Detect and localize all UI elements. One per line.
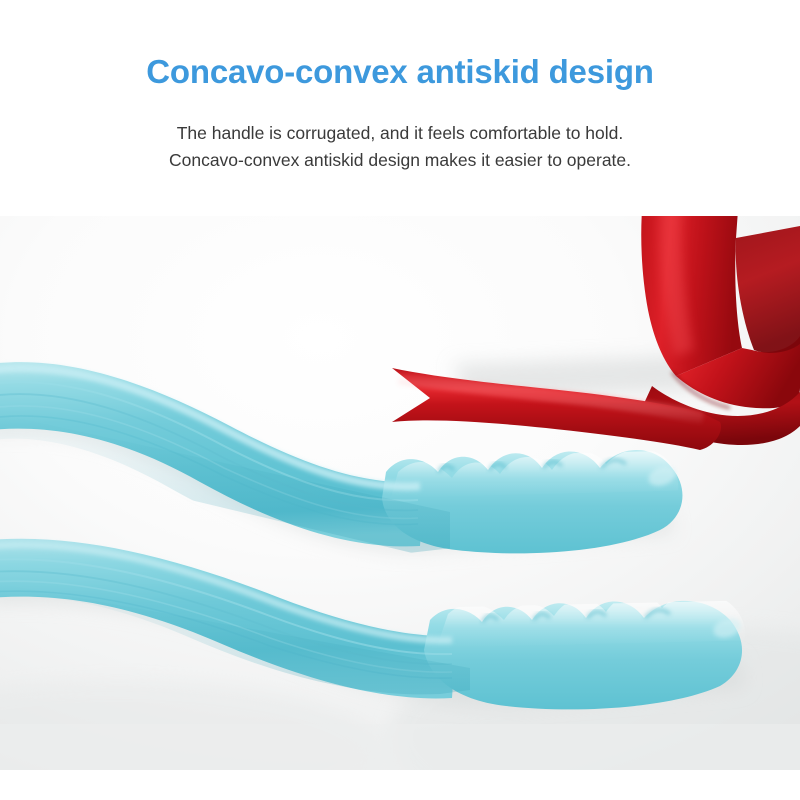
product-photo-illustration	[0, 216, 800, 770]
product-feature-image: Concavo-convex antiskid design The handl…	[0, 0, 800, 800]
subcopy-line-1: The handle is corrugated, and it feels c…	[0, 120, 800, 147]
product-photo	[0, 216, 800, 770]
page-title: Concavo-convex antiskid design	[0, 52, 800, 92]
photo-bottom-vignette	[0, 724, 800, 770]
header-text-block: Concavo-convex antiskid design The handl…	[0, 0, 800, 216]
subcopy: The handle is corrugated, and it feels c…	[0, 120, 800, 174]
lower-grip-sheen	[420, 600, 760, 648]
bottom-white-strip	[0, 770, 800, 800]
subcopy-line-2: Concavo-convex antiskid design makes it …	[0, 147, 800, 174]
